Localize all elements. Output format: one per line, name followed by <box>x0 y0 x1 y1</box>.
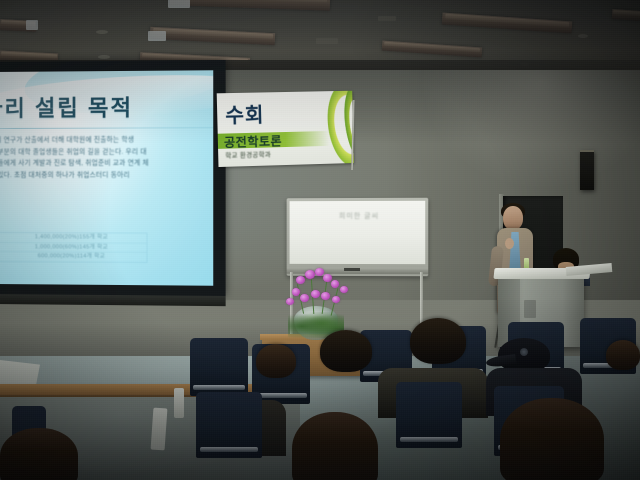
audience-head <box>320 330 372 372</box>
ceiling-light-fixture <box>442 12 573 33</box>
whiteboard: 희미한 글씨 <box>287 198 429 276</box>
slide-title: 동아리 설립 목적 <box>0 95 213 122</box>
whiteboard-clip <box>344 268 360 271</box>
projection-screen: 동아리 설립 목적 현재 고학년의 연구가 산출에서 더해 대학원에 진출하는 … <box>0 70 213 285</box>
orchid-bloom <box>292 288 300 296</box>
screen-bottom-bar <box>0 294 226 306</box>
orchid-bloom <box>323 274 332 282</box>
orchid-bloom <box>332 296 340 303</box>
ceiling-vent <box>378 16 396 21</box>
ceiling-light-fixture <box>612 9 640 21</box>
slide-title-rule <box>0 127 213 129</box>
audience-head <box>256 344 296 378</box>
ceiling-light-fixture <box>0 19 36 32</box>
ceiling-fitting <box>98 55 110 59</box>
audience-long-hair <box>500 398 604 480</box>
slide-table-row: 600,000(20%)114개 학교 <box>0 252 147 262</box>
slide-body-text: 현재 고학년의 연구가 산출에서 더해 대학원에 진출하는 학생 들과 고는 대… <box>0 134 213 181</box>
orchid-bloom <box>296 276 305 284</box>
ceiling-fitting <box>578 34 588 38</box>
seat-armrest <box>151 408 168 451</box>
seat[interactable] <box>196 392 262 458</box>
slide-body-line: 들과 고는 대부분의 대학 졸업생들은 취업의 길을 걷는다. 우리 대 <box>0 146 213 158</box>
banner-subtitle: 공전학토론 <box>224 132 282 151</box>
lecture-hall-photo: 동아리 설립 목적 현재 고학년의 연구가 산출에서 더해 대학원에 진출하는 … <box>0 0 640 480</box>
audience-head <box>606 340 640 370</box>
audience-long-hair <box>0 428 78 480</box>
slide-body-line: 현재 고학년의 연구가 산출에서 더해 대학원에 진출하는 학생 <box>0 134 213 146</box>
orchid-bloom <box>311 290 320 298</box>
seat-armrest <box>174 388 184 418</box>
wall-banner: 수회 공전학토론 학교 환경공학과 <box>217 91 354 167</box>
ceiling-light-fixture <box>170 0 330 11</box>
orchid-bloom <box>305 270 315 279</box>
audience-long-hair <box>292 412 378 480</box>
ceiling-vent <box>316 38 338 44</box>
orchid-bloom <box>331 280 339 288</box>
ceiling-light-lip <box>26 20 38 30</box>
seat[interactable] <box>396 382 462 448</box>
banner-footer: 학교 환경공학과 <box>225 149 271 159</box>
slide-body-line: 행 및 졸업생들에게 사기 계발과 진로 탐색, 취업준비 교과 연계 체 <box>0 158 213 170</box>
whiteboard-writing: 희미한 글씨 <box>319 211 399 221</box>
ceiling-light-fixture <box>382 41 482 58</box>
slide-data-table: 1,400,000(20%)155개 학교 1,000,000(60%)145개… <box>0 232 148 263</box>
orchid-bloom <box>300 294 309 302</box>
audience-head <box>410 318 466 364</box>
wall-speaker-icon <box>580 150 594 190</box>
ceiling-fitting <box>96 30 108 34</box>
ceiling-light-fixture <box>150 27 275 46</box>
banner-title: 수회 <box>225 98 265 128</box>
orchid-bloom <box>340 286 348 293</box>
ceiling-light-lip <box>168 0 190 8</box>
seat[interactable] <box>190 338 248 396</box>
presenter-hand <box>505 238 514 249</box>
slide-body-line: 로 운영하고 있다. 초점 대처중의 하나가 취업스터디 동아리 <box>0 169 213 181</box>
projection-screen-frame: 동아리 설립 목적 현재 고학년의 연구가 산출에서 더해 대학원에 진출하는 … <box>0 60 226 296</box>
orchid-bloom <box>321 292 330 300</box>
ceiling-light-lip <box>148 31 166 41</box>
audience-cap-logo <box>520 348 528 356</box>
whiteboard-surface: 희미한 글씨 <box>290 201 426 264</box>
orchid-bloom <box>286 298 294 305</box>
wall-light-pool <box>420 70 640 190</box>
presenter-head <box>503 206 523 230</box>
podium-control-panel <box>524 300 536 318</box>
orchid-bloom <box>315 268 324 276</box>
